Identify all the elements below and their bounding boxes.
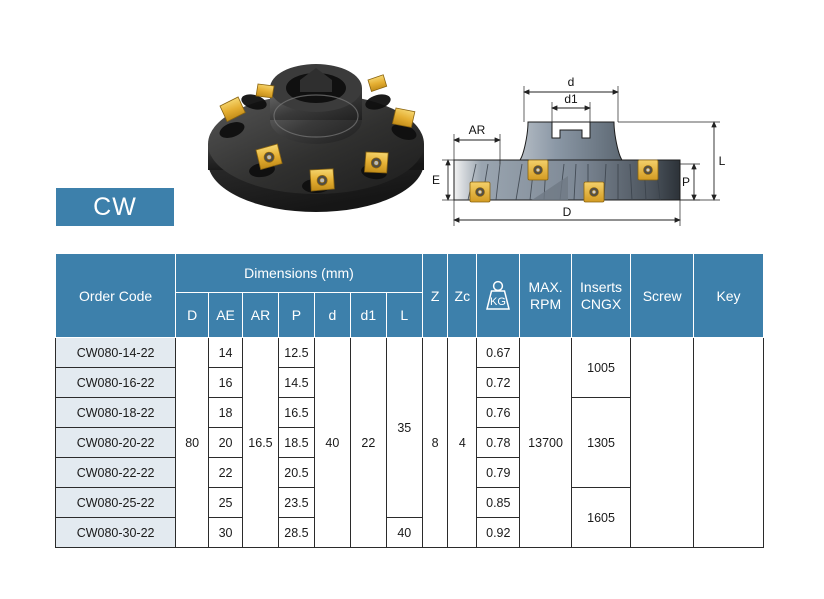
- cell-inserts: 1005: [571, 338, 631, 398]
- header-dim-ar: AR: [243, 293, 279, 338]
- cell-dim-ae: 25: [209, 488, 243, 518]
- cell-max-rpm: 13700: [520, 338, 571, 548]
- cell-weight: 0.76: [477, 398, 520, 428]
- cell-dim-ar: 16.5: [243, 338, 279, 548]
- cell-order-code: CW080-22-22: [56, 458, 176, 488]
- cell-dim-ae: 14: [209, 338, 243, 368]
- dim-label-AE: AE: [432, 173, 440, 187]
- cell-order-code: CW080-14-22: [56, 338, 176, 368]
- cell-dim-p: 18.5: [278, 428, 314, 458]
- header-dim-d-small: d: [314, 293, 350, 338]
- cell-dim-ae: 18: [209, 398, 243, 428]
- cell-dim-ae: 20: [209, 428, 243, 458]
- header-weight-kg: KG: [477, 254, 520, 338]
- header-max-rpm: MAX. RPM: [520, 254, 571, 338]
- header-order-code: Order Code: [56, 254, 176, 338]
- cell-order-code: CW080-18-22: [56, 398, 176, 428]
- header-key: Key: [694, 254, 764, 338]
- cell-screw: [631, 338, 694, 548]
- cell-order-code: CW080-25-22: [56, 488, 176, 518]
- specification-table: Order Code Dimensions (mm) Z Zc KG: [55, 253, 764, 548]
- header-inserts-line2: CNGX: [572, 296, 631, 312]
- header-max-rpm-line1: MAX.: [520, 279, 570, 295]
- cell-order-code: CW080-30-22: [56, 518, 176, 548]
- cell-dim-d-small: 40: [314, 338, 350, 548]
- header-inserts-line1: Inserts: [572, 279, 631, 295]
- cell-weight: 0.92: [477, 518, 520, 548]
- weight-kg-icon: KG: [483, 279, 513, 313]
- series-badge-label: CW: [93, 193, 137, 222]
- header-dim-d1: d1: [350, 293, 386, 338]
- product-spec-sheet: d d1 AR AE L: [0, 0, 824, 599]
- cell-dim-ae: 22: [209, 458, 243, 488]
- cell-weight: 0.78: [477, 428, 520, 458]
- cell-weight: 0.85: [477, 488, 520, 518]
- cell-dim-p: 12.5: [278, 338, 314, 368]
- cell-dim-ae: 16: [209, 368, 243, 398]
- cell-dim-p: 23.5: [278, 488, 314, 518]
- dim-label-D: D: [563, 205, 572, 219]
- cell-dim-ae: 30: [209, 518, 243, 548]
- dim-label-L: L: [719, 154, 726, 168]
- header-dim-p: P: [278, 293, 314, 338]
- cell-dim-p: 14.5: [278, 368, 314, 398]
- header-max-rpm-line2: RPM: [520, 296, 570, 312]
- cell-dim-l: 35: [386, 338, 422, 518]
- specification-table-wrapper: Order Code Dimensions (mm) Z Zc KG: [55, 253, 764, 548]
- header-inserts-cngx: Inserts CNGX: [571, 254, 631, 338]
- dim-label-P: P: [682, 175, 690, 189]
- header-dimensions-group: Dimensions (mm): [176, 254, 423, 293]
- header-dim-ae: AE: [209, 293, 243, 338]
- cell-dim-p: 28.5: [278, 518, 314, 548]
- cell-zc: 4: [448, 338, 477, 548]
- dim-label-d: d: [568, 75, 575, 89]
- cross-section-drawing: d d1 AR AE L: [432, 72, 732, 232]
- cell-dim-p: 16.5: [278, 398, 314, 428]
- header-dim-d: D: [176, 293, 209, 338]
- cell-dim-p: 20.5: [278, 458, 314, 488]
- cell-inserts: 1305: [571, 398, 631, 488]
- cell-order-code: CW080-20-22: [56, 428, 176, 458]
- cell-dim-l: 40: [386, 518, 422, 548]
- dim-label-d1: d1: [564, 92, 578, 106]
- svg-text:KG: KG: [490, 296, 506, 308]
- cell-weight: 0.79: [477, 458, 520, 488]
- cell-dim-d1: 22: [350, 338, 386, 548]
- cell-z: 8: [422, 338, 448, 548]
- cell-order-code: CW080-16-22: [56, 368, 176, 398]
- header-dim-l: L: [386, 293, 422, 338]
- product-photo: [198, 58, 434, 238]
- header-screw: Screw: [631, 254, 694, 338]
- header-z: Z: [422, 254, 448, 338]
- table-row: CW080-14-22 80 14 16.5 12.5 40 22 35 8 4…: [56, 338, 764, 368]
- cell-weight: 0.72: [477, 368, 520, 398]
- cell-dim-d: 80: [176, 338, 209, 548]
- dim-label-AR: AR: [469, 123, 486, 137]
- cell-inserts: 1605: [571, 488, 631, 548]
- header-zc: Zc: [448, 254, 477, 338]
- series-badge: CW: [56, 188, 174, 226]
- cell-key: [694, 338, 764, 548]
- cell-weight: 0.67: [477, 338, 520, 368]
